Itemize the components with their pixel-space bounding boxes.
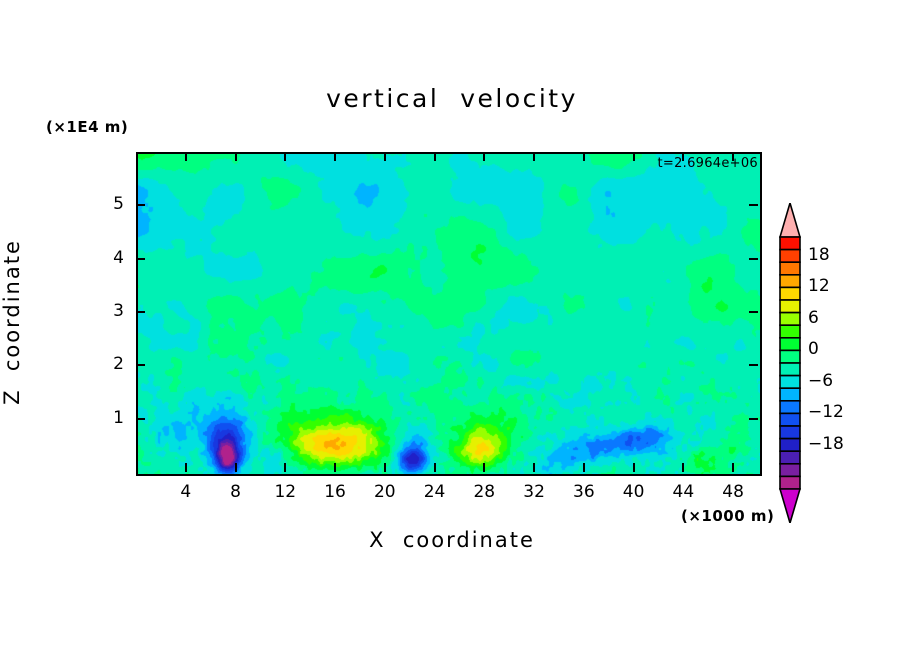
x-tick-mark [583,463,585,472]
colorbar-band [780,388,800,401]
x-tick-mark [633,152,635,161]
y-tick-mark [136,204,145,206]
colorbar-band [780,237,800,250]
colorbar-cap-high [780,203,800,237]
y-tick-mark [136,258,145,260]
y-tick-label: 3 [84,301,124,321]
colorbar-band [780,401,800,414]
y-axis-title: Z coordinate [0,212,24,432]
colorbar-band [780,376,800,389]
colorbar-swatches [779,203,801,523]
y-tick-mark [749,311,758,313]
x-tick-mark [384,152,386,161]
page-title: vertical velocity [0,84,904,113]
colorbar-band [780,464,800,477]
colorbar-band [780,451,800,464]
colorbar-band [780,300,800,313]
x-tick-mark [284,463,286,472]
colorbar-band [780,338,800,351]
x-tick-mark [533,152,535,161]
x-tick-mark [334,463,336,472]
x-tick-mark [682,463,684,472]
y-tick-mark [749,418,758,420]
colorbar-tick-label: 12 [808,276,830,296]
y-tick-mark [136,311,145,313]
x-tick-mark [235,463,237,472]
colorbar-tick-label: 0 [808,339,819,359]
colorbar-band [780,287,800,300]
colorbar-band [780,350,800,363]
colorbar-tick-label: −12 [808,402,844,422]
x-axis-title: X coordinate [0,528,904,552]
x-tick-mark [533,463,535,472]
colorbar-band [780,439,800,452]
colorbar-cap-low [780,489,800,523]
x-tick-mark [583,152,585,161]
x-tick-mark [434,152,436,161]
colorbar-band [780,413,800,426]
colorbar-band [780,325,800,338]
x-tick-mark [284,152,286,161]
colorbar-band [780,426,800,439]
colorbar-tick-label: −6 [808,371,833,391]
colorbar-band [780,363,800,376]
colorbar-band [780,250,800,263]
y-tick-label: 1 [84,408,124,428]
colorbar-band [780,313,800,326]
y-tick-mark [136,418,145,420]
vertical-velocity-field [138,154,760,474]
y-tick-mark [749,258,758,260]
colorbar-tick-label: −18 [808,434,844,454]
y-tick-label: 5 [84,194,124,214]
contour-plot-panel[interactable]: t=2.6964e+06 [136,152,762,476]
x-tick-mark [334,152,336,161]
x-tick-mark [732,463,734,472]
x-tick-mark [235,152,237,161]
time-stamp-label: t=2.6964e+06 [657,156,758,171]
x-tick-mark [483,152,485,161]
colorbar-tick-label: 18 [808,245,830,265]
x-tick-mark [384,463,386,472]
x-tick-mark [434,463,436,472]
colorbar-tick-label: 6 [808,308,819,328]
x-tick-mark [185,152,187,161]
y-tick-mark [136,364,145,366]
y-axis-unit-label: (×1E4 m) [46,118,128,136]
x-tick-mark [185,463,187,472]
colorbar-band [780,275,800,288]
x-tick-mark [633,463,635,472]
y-tick-label: 4 [84,248,124,268]
y-tick-mark [749,204,758,206]
x-tick-label: 48 [703,482,763,502]
colorbar-band [780,476,800,489]
x-tick-mark [483,463,485,472]
y-tick-mark [749,364,758,366]
colorbar-band [780,262,800,275]
x-axis-unit-label: (×1000 m) [681,507,774,525]
colorbar[interactable] [779,203,801,523]
y-tick-label: 2 [84,354,124,374]
